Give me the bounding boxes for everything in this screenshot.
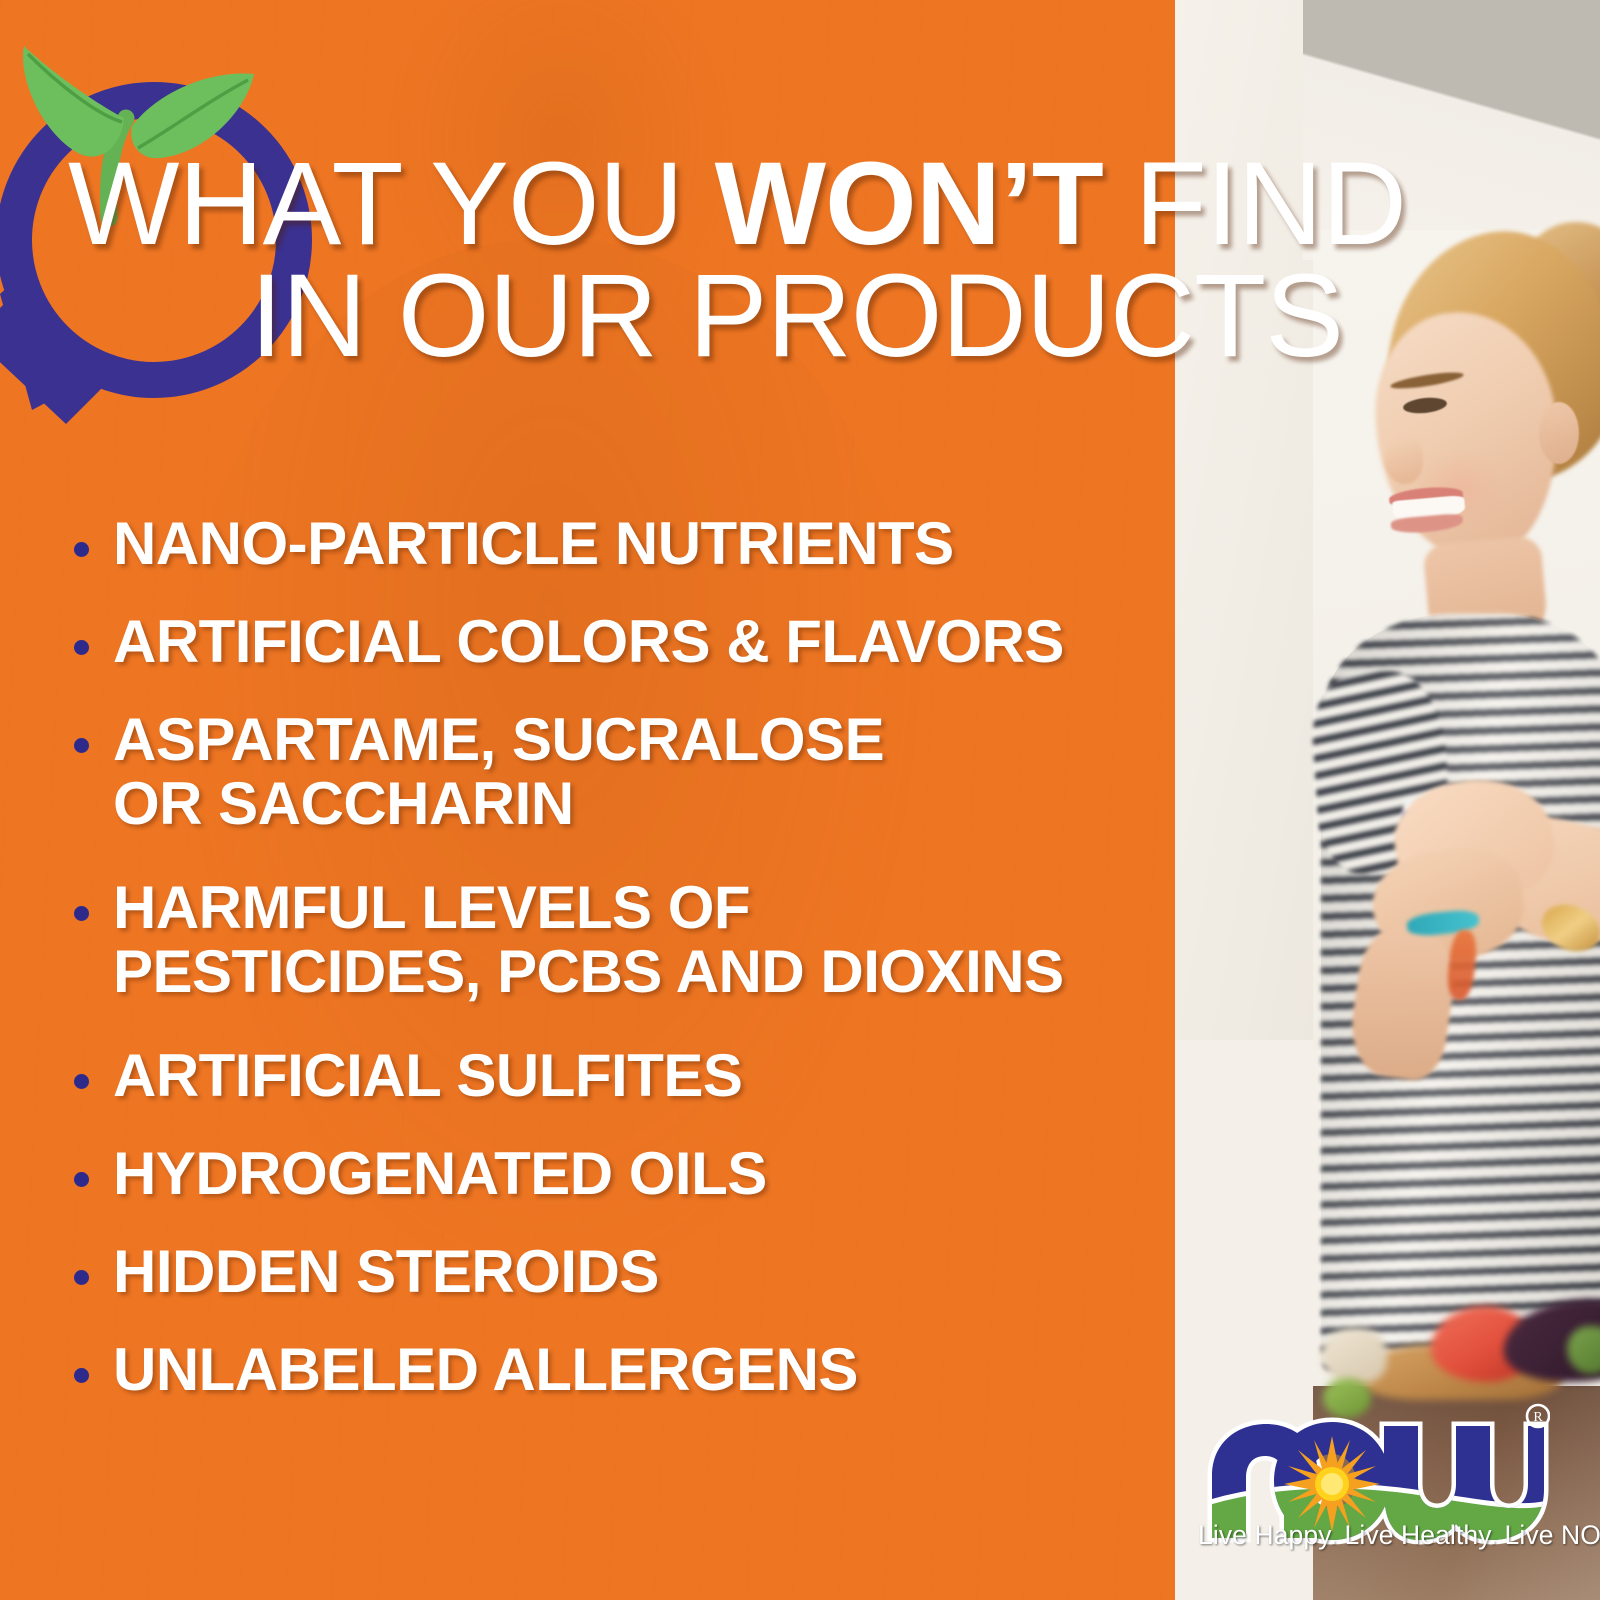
list-item: HIDDEN STEROIDS bbox=[74, 1240, 1154, 1304]
list-item: UNLABELED ALLERGENS bbox=[74, 1338, 1154, 1402]
list-item-label: HARMFUL LEVELS OF PESTICIDES, PCBS AND D… bbox=[113, 876, 1064, 1004]
list-item: ARTIFICIAL COLORS & FLAVORS bbox=[74, 610, 1154, 674]
list-item: HARMFUL LEVELS OF PESTICIDES, PCBS AND D… bbox=[74, 876, 1154, 1004]
bullet-dot-icon bbox=[74, 640, 89, 655]
list-item-label: UNLABELED ALLERGENS bbox=[113, 1338, 858, 1402]
bullet-dot-icon bbox=[74, 1172, 89, 1187]
svg-text:R: R bbox=[1533, 1410, 1543, 1425]
photo-garlic bbox=[1321, 1328, 1387, 1384]
photo-ear bbox=[1539, 402, 1579, 464]
bullet-dot-icon bbox=[74, 1074, 89, 1089]
list-item-label: ARTIFICIAL SULFITES bbox=[113, 1044, 742, 1108]
bullet-dot-icon bbox=[74, 738, 89, 753]
list-item: ARTIFICIAL SULFITES bbox=[74, 1044, 1154, 1108]
list-item: NANO-PARTICLE NUTRIENTS bbox=[74, 512, 1154, 576]
list-item: ASPARTAME, SUCRALOSE OR SACCHARIN bbox=[74, 708, 1154, 836]
list-item-label: ARTIFICIAL COLORS & FLAVORS bbox=[113, 610, 1064, 674]
list-item-label: HYDROGENATED OILS bbox=[113, 1142, 767, 1206]
excluded-ingredients-list: NANO-PARTICLE NUTRIENTS ARTIFICIAL COLOR… bbox=[74, 512, 1154, 1436]
photo-nose bbox=[1385, 438, 1423, 484]
registered-trademark-icon: R bbox=[1527, 1405, 1549, 1427]
headline-line-2: IN OUR PRODUCTS bbox=[250, 260, 1528, 372]
now-foods-logo: R bbox=[1198, 1398, 1550, 1586]
bullet-dot-icon bbox=[74, 906, 89, 921]
brand-tagline: Live Happy. Live Healthy. Live NOW. bbox=[1198, 1520, 1550, 1551]
list-item-label: NANO-PARTICLE NUTRIENTS bbox=[113, 512, 954, 576]
bullet-dot-icon bbox=[74, 1270, 89, 1285]
logo-wordmark bbox=[1198, 1398, 1550, 1586]
page-title: WHAT YOU WON’T FIND IN OUR PRODUCTS bbox=[68, 148, 1528, 372]
bullet-dot-icon bbox=[74, 542, 89, 557]
list-item: HYDROGENATED OILS bbox=[74, 1142, 1154, 1206]
list-item-label: HIDDEN STEROIDS bbox=[113, 1240, 659, 1304]
headline-line-1: WHAT YOU WON’T FIND bbox=[68, 148, 1528, 260]
sunburst-icon bbox=[1284, 1436, 1380, 1532]
poster-canvas: WHAT YOU WON’T FIND IN OUR PRODUCTS NANO… bbox=[0, 0, 1600, 1600]
bullet-dot-icon bbox=[74, 1368, 89, 1383]
list-item-label: ASPARTAME, SUCRALOSE OR SACCHARIN bbox=[113, 708, 884, 836]
